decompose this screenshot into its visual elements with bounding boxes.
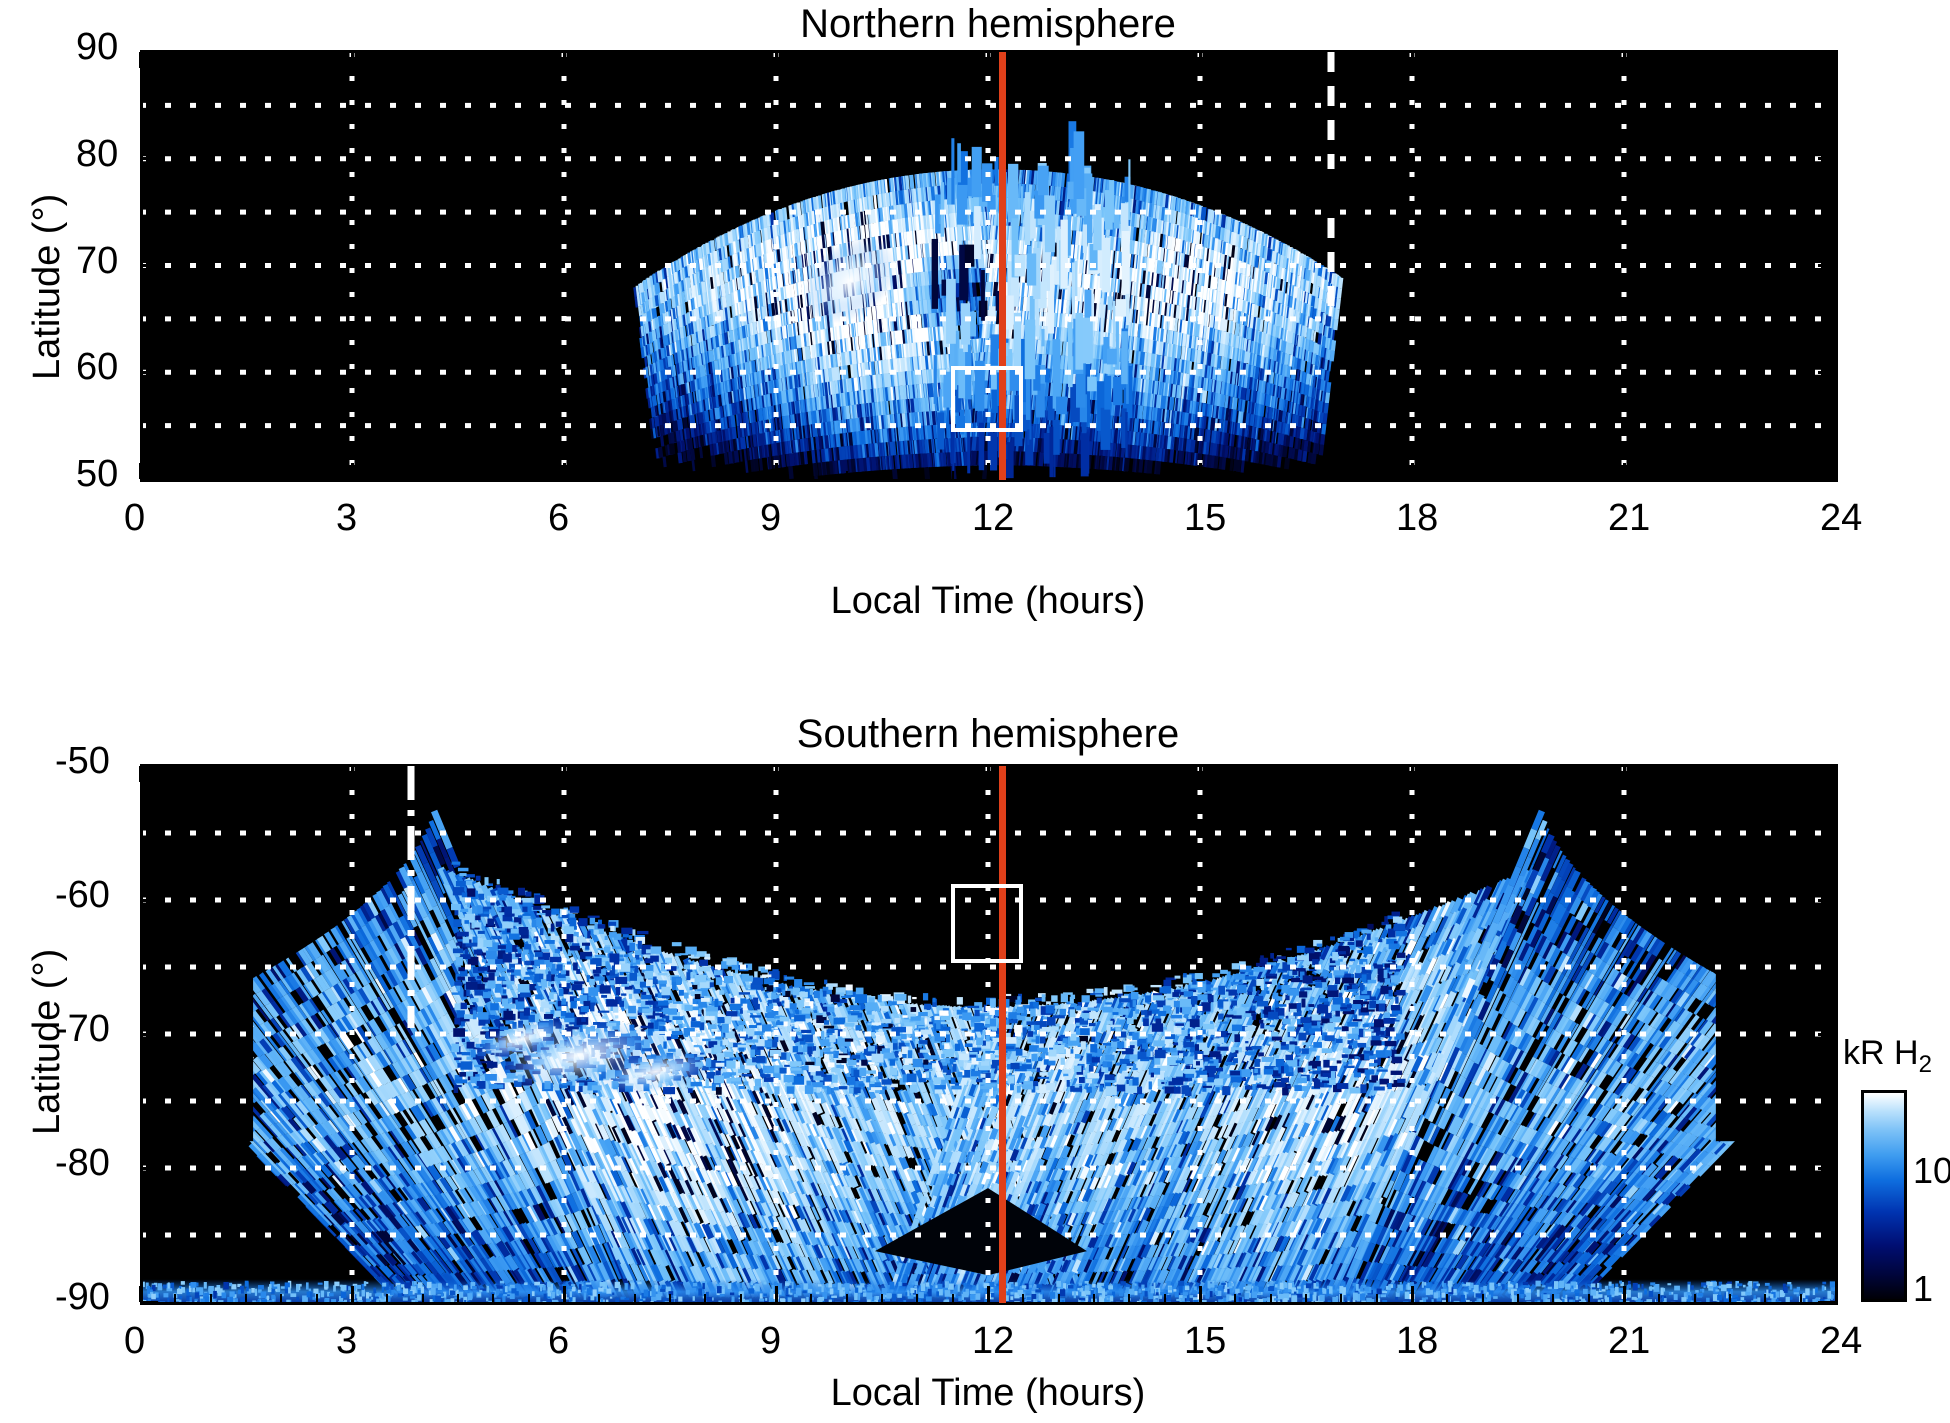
x-tick-minor	[916, 52, 918, 60]
y-tick-minor	[1826, 1006, 1836, 1008]
y-tick-minor	[140, 979, 150, 981]
y-tick-minor	[1826, 872, 1836, 874]
y-tick-minor	[1826, 845, 1836, 847]
y-tick-minor	[1826, 94, 1836, 96]
y-tick-minor	[1826, 953, 1836, 955]
x-tick-minor	[1552, 1294, 1554, 1302]
y-tick-minor	[1826, 329, 1836, 331]
y-tick-minor	[140, 94, 150, 96]
x-tick-minor	[1517, 1294, 1519, 1302]
y-tick-minor	[140, 136, 150, 138]
x-tick-minor	[210, 1294, 212, 1302]
y-tick-minor	[140, 435, 150, 437]
y-tick-label: 50	[76, 453, 118, 496]
south-heatmap-image	[140, 766, 1836, 1302]
x-tick-major	[1411, 463, 1414, 479]
x-tick-minor	[881, 1294, 883, 1302]
x-tick-minor	[810, 766, 812, 774]
y-tick-minor	[1826, 286, 1836, 288]
y-tick-major	[1818, 51, 1836, 54]
x-tick-minor	[316, 1294, 318, 1302]
x-tick-minor	[810, 52, 812, 60]
x-tick-minor	[492, 766, 494, 774]
x-tick-minor	[1164, 766, 1166, 774]
x-tick-minor	[952, 766, 954, 774]
x-tick-minor	[1764, 1294, 1766, 1302]
x-tick-major	[775, 463, 778, 479]
y-tick-label: -90	[55, 1276, 110, 1319]
south-x-axis	[140, 1302, 1838, 1305]
y-tick-minor	[140, 1087, 150, 1089]
x-tick-minor	[598, 766, 600, 774]
x-tick-major	[1199, 463, 1202, 479]
x-tick-major	[775, 1286, 778, 1302]
x-tick-minor	[1058, 471, 1060, 479]
x-tick-minor	[1658, 52, 1660, 60]
x-tick-minor	[1376, 471, 1378, 479]
x-tick-minor	[1694, 52, 1696, 60]
x-tick-minor	[740, 1294, 742, 1302]
x-tick-minor	[1128, 1294, 1130, 1302]
y-tick-minor	[1826, 1087, 1836, 1089]
y-tick-major	[140, 478, 158, 481]
y-tick-major	[1818, 765, 1836, 768]
x-tick-major	[1411, 766, 1414, 782]
x-tick-minor	[1588, 471, 1590, 479]
x-tick-minor	[457, 471, 459, 479]
x-tick-minor	[1446, 766, 1448, 774]
south-region-of-interest-box	[951, 884, 1023, 963]
x-tick-minor	[1340, 471, 1342, 479]
x-tick-major	[1199, 52, 1202, 68]
x-tick-minor	[422, 1294, 424, 1302]
x-tick-minor	[1446, 1294, 1448, 1302]
x-tick-minor	[422, 766, 424, 774]
x-tick-minor	[316, 766, 318, 774]
x-tick-minor	[1800, 1294, 1802, 1302]
x-tick-minor	[1164, 471, 1166, 479]
x-tick-minor	[1800, 471, 1802, 479]
y-tick-minor	[1826, 307, 1836, 309]
x-tick-major	[1411, 52, 1414, 68]
x-tick-minor	[528, 1294, 530, 1302]
y-tick-minor	[140, 1274, 150, 1276]
y-tick-minor	[140, 243, 150, 245]
x-tick-label: 6	[548, 1320, 569, 1363]
y-tick-minor	[1826, 1140, 1836, 1142]
y-tick-label: -50	[55, 740, 110, 783]
y-tick-major	[140, 1033, 158, 1036]
x-tick-minor	[457, 52, 459, 60]
south-y-axis-label: Latitude (°)	[26, 949, 69, 1135]
x-tick-major	[1411, 1286, 1414, 1302]
x-tick-major	[563, 52, 566, 68]
x-tick-minor	[1305, 52, 1307, 60]
x-tick-minor	[1022, 52, 1024, 60]
x-tick-minor	[245, 1294, 247, 1302]
x-tick-minor	[386, 766, 388, 774]
x-tick-minor	[245, 52, 247, 60]
x-tick-minor	[1022, 766, 1024, 774]
y-tick-minor	[140, 72, 150, 74]
x-tick-minor	[1729, 766, 1731, 774]
x-tick-major	[563, 1286, 566, 1302]
x-tick-minor	[245, 471, 247, 479]
x-tick-minor	[1552, 471, 1554, 479]
x-tick-minor	[1800, 766, 1802, 774]
x-tick-minor	[1517, 52, 1519, 60]
y-tick-minor	[140, 1194, 150, 1196]
x-tick-minor	[1093, 52, 1095, 60]
x-tick-minor	[1376, 52, 1378, 60]
y-tick-minor	[140, 1140, 150, 1142]
x-tick-minor	[669, 52, 671, 60]
x-tick-minor	[280, 1294, 282, 1302]
x-tick-minor	[1128, 766, 1130, 774]
x-tick-minor	[704, 766, 706, 774]
x-tick-minor	[528, 52, 530, 60]
x-tick-minor	[669, 471, 671, 479]
y-tick-minor	[140, 1060, 150, 1062]
x-tick-minor	[1305, 766, 1307, 774]
x-tick-label: 12	[972, 497, 1014, 540]
x-tick-minor	[1588, 766, 1590, 774]
x-tick-minor	[1446, 471, 1448, 479]
x-tick-minor	[916, 1294, 918, 1302]
x-tick-minor	[952, 52, 954, 60]
x-tick-minor	[1800, 52, 1802, 60]
x-tick-major	[139, 52, 142, 68]
colorbar-title: kR H2	[1843, 1034, 1932, 1079]
x-tick-minor	[386, 471, 388, 479]
y-tick-minor	[1826, 1194, 1836, 1196]
x-tick-major	[563, 463, 566, 479]
x-tick-minor	[952, 1294, 954, 1302]
x-tick-minor	[1270, 471, 1272, 479]
x-tick-major	[351, 463, 354, 479]
x-tick-minor	[174, 52, 176, 60]
x-tick-minor	[1482, 471, 1484, 479]
x-tick-minor	[457, 766, 459, 774]
x-tick-label: 3	[336, 1320, 357, 1363]
x-tick-major	[1623, 463, 1626, 479]
x-tick-minor	[740, 766, 742, 774]
y-tick-minor	[140, 845, 150, 847]
x-tick-minor	[634, 766, 636, 774]
x-tick-minor	[1022, 1294, 1024, 1302]
x-tick-label: 18	[1396, 1320, 1438, 1363]
x-tick-minor	[1588, 1294, 1590, 1302]
x-tick-minor	[1128, 52, 1130, 60]
y-tick-minor	[1826, 350, 1836, 352]
x-tick-minor	[598, 52, 600, 60]
y-tick-minor	[1826, 1247, 1836, 1249]
x-tick-minor	[1729, 52, 1731, 60]
x-tick-major	[1623, 1286, 1626, 1302]
x-tick-minor	[1376, 766, 1378, 774]
x-tick-minor	[881, 766, 883, 774]
south-noon-marker-line	[999, 766, 1006, 1303]
y-tick-label: -60	[55, 874, 110, 917]
x-tick-minor	[1270, 766, 1272, 774]
south-x-axis-label: Local Time (hours)	[140, 1372, 1836, 1415]
colorbar-tick-label-1: 1	[1913, 1268, 1933, 1310]
y-tick-minor	[1826, 1113, 1836, 1115]
x-tick-minor	[810, 471, 812, 479]
north-x-axis	[140, 479, 1838, 482]
x-tick-label: 9	[760, 1320, 781, 1363]
north-region-of-interest-box	[951, 366, 1023, 432]
x-tick-minor	[1058, 1294, 1060, 1302]
north-dashed-reference-line	[1327, 52, 1335, 169]
y-tick-minor	[140, 1221, 150, 1223]
x-tick-minor	[669, 1294, 671, 1302]
x-tick-major	[1835, 52, 1838, 68]
panel-title-north: Northern hemisphere	[140, 2, 1836, 47]
y-tick-major	[1818, 371, 1836, 374]
x-tick-minor	[174, 766, 176, 774]
colorbar-gradient	[1861, 1090, 1907, 1302]
x-tick-minor	[280, 766, 282, 774]
y-tick-minor	[1826, 1221, 1836, 1223]
x-tick-minor	[245, 766, 247, 774]
x-tick-minor	[846, 471, 848, 479]
x-tick-minor	[1658, 766, 1660, 774]
south-dashdot-reference-line	[406, 766, 416, 1028]
x-tick-minor	[1517, 766, 1519, 774]
y-tick-minor	[140, 792, 150, 794]
y-tick-minor	[140, 200, 150, 202]
x-tick-minor	[1517, 471, 1519, 479]
y-tick-major	[140, 899, 158, 902]
x-tick-major	[775, 766, 778, 782]
x-tick-minor	[1305, 1294, 1307, 1302]
y-tick-minor	[140, 222, 150, 224]
y-tick-label: 80	[76, 133, 118, 176]
x-tick-minor	[846, 766, 848, 774]
x-tick-minor	[704, 471, 706, 479]
north-x-axis-label: Local Time (hours)	[140, 580, 1836, 623]
x-tick-minor	[1446, 52, 1448, 60]
x-tick-major	[987, 1286, 990, 1302]
x-tick-minor	[740, 471, 742, 479]
colorbar-title-subscript: 2	[1919, 1051, 1932, 1078]
x-tick-minor	[669, 766, 671, 774]
y-tick-minor	[1826, 393, 1836, 395]
x-tick-minor	[916, 471, 918, 479]
x-tick-minor	[1093, 471, 1095, 479]
south-heatmap-plot-area	[140, 766, 1836, 1302]
x-tick-minor	[1482, 52, 1484, 60]
y-tick-minor	[1826, 222, 1836, 224]
x-tick-minor	[1234, 471, 1236, 479]
x-tick-major	[1623, 766, 1626, 782]
x-tick-major	[351, 1286, 354, 1302]
y-tick-minor	[140, 307, 150, 309]
y-tick-minor	[140, 953, 150, 955]
x-tick-major	[1199, 766, 1202, 782]
x-tick-minor	[704, 1294, 706, 1302]
x-tick-label: 15	[1184, 1320, 1226, 1363]
y-tick-minor	[1826, 819, 1836, 821]
x-tick-minor	[1270, 1294, 1272, 1302]
x-tick-label: 15	[1184, 497, 1226, 540]
x-tick-minor	[598, 471, 600, 479]
y-tick-major	[140, 1301, 158, 1304]
x-tick-minor	[634, 471, 636, 479]
x-tick-minor	[1058, 766, 1060, 774]
x-tick-minor	[846, 1294, 848, 1302]
x-tick-minor	[210, 52, 212, 60]
north-y-axis-label: Latitude (°)	[26, 194, 69, 380]
y-tick-major	[1818, 899, 1836, 902]
y-tick-minor	[140, 115, 150, 117]
x-tick-minor	[1482, 766, 1484, 774]
x-tick-minor	[916, 766, 918, 774]
x-tick-minor	[210, 471, 212, 479]
y-tick-minor	[1826, 243, 1836, 245]
x-tick-minor	[1694, 1294, 1696, 1302]
x-tick-minor	[422, 471, 424, 479]
x-tick-label: 9	[760, 497, 781, 540]
x-tick-minor	[634, 1294, 636, 1302]
y-tick-minor	[140, 1113, 150, 1115]
x-tick-minor	[1093, 1294, 1095, 1302]
y-tick-major	[140, 1167, 158, 1170]
x-tick-minor	[881, 52, 883, 60]
x-tick-minor	[316, 471, 318, 479]
x-tick-minor	[1658, 1294, 1660, 1302]
x-tick-minor	[1340, 52, 1342, 60]
x-tick-minor	[1234, 52, 1236, 60]
y-tick-major	[140, 51, 158, 54]
x-tick-minor	[1588, 52, 1590, 60]
x-tick-minor	[1552, 52, 1554, 60]
y-tick-minor	[1826, 136, 1836, 138]
x-tick-minor	[1234, 766, 1236, 774]
y-tick-label: 70	[76, 240, 118, 283]
x-tick-label: 12	[972, 1320, 1014, 1363]
y-tick-minor	[1826, 200, 1836, 202]
x-tick-minor	[598, 1294, 600, 1302]
x-tick-minor	[1658, 471, 1660, 479]
y-tick-major	[140, 264, 158, 267]
x-tick-label: 3	[336, 497, 357, 540]
y-tick-minor	[1826, 414, 1836, 416]
y-tick-major	[1818, 1033, 1836, 1036]
x-tick-minor	[1164, 52, 1166, 60]
y-tick-minor	[140, 329, 150, 331]
x-tick-major	[351, 52, 354, 68]
x-tick-minor	[1340, 1294, 1342, 1302]
x-tick-minor	[1376, 1294, 1378, 1302]
y-tick-label: 90	[76, 26, 118, 69]
x-tick-minor	[1234, 1294, 1236, 1302]
y-tick-minor	[140, 1247, 150, 1249]
y-tick-minor	[1826, 72, 1836, 74]
x-tick-minor	[881, 471, 883, 479]
x-tick-minor	[1764, 471, 1766, 479]
x-tick-label: 21	[1608, 1320, 1650, 1363]
x-tick-label: 0	[124, 1320, 145, 1363]
y-tick-minor	[1826, 457, 1836, 459]
x-tick-major	[1199, 1286, 1202, 1302]
y-tick-minor	[140, 286, 150, 288]
y-tick-label: -80	[55, 1142, 110, 1185]
colorbar-tick-label-10: 10	[1913, 1150, 1950, 1192]
x-tick-minor	[1093, 766, 1095, 774]
x-tick-label: 24	[1820, 1320, 1862, 1363]
x-tick-minor	[1340, 766, 1342, 774]
x-tick-minor	[386, 1294, 388, 1302]
x-tick-minor	[1694, 471, 1696, 479]
x-tick-minor	[280, 471, 282, 479]
y-tick-major	[1818, 157, 1836, 160]
x-tick-minor	[492, 1294, 494, 1302]
y-tick-minor	[1826, 1274, 1836, 1276]
x-tick-minor	[210, 766, 212, 774]
north-dashed-reference-line-lower	[1327, 218, 1335, 318]
y-tick-major	[1818, 1301, 1836, 1304]
y-tick-major	[1818, 264, 1836, 267]
x-tick-minor	[740, 52, 742, 60]
y-tick-label: 60	[76, 346, 118, 389]
x-tick-minor	[1729, 1294, 1731, 1302]
x-tick-minor	[952, 471, 954, 479]
x-tick-major	[775, 52, 778, 68]
x-tick-label: 0	[124, 497, 145, 540]
x-tick-minor	[1058, 52, 1060, 60]
y-tick-minor	[1826, 115, 1836, 117]
x-tick-minor	[1764, 52, 1766, 60]
x-tick-minor	[1729, 471, 1731, 479]
x-tick-minor	[280, 52, 282, 60]
y-tick-minor	[140, 393, 150, 395]
x-tick-minor	[528, 766, 530, 774]
x-tick-major	[987, 463, 990, 479]
x-tick-minor	[1764, 766, 1766, 774]
colorbar-title-text: kR H	[1843, 1034, 1919, 1072]
y-tick-minor	[1826, 979, 1836, 981]
y-tick-minor	[140, 819, 150, 821]
x-tick-major	[139, 766, 142, 782]
y-tick-minor	[1826, 926, 1836, 928]
y-tick-major	[1818, 478, 1836, 481]
x-tick-minor	[634, 52, 636, 60]
x-tick-minor	[1022, 471, 1024, 479]
y-tick-major	[1818, 1167, 1836, 1170]
y-tick-minor	[1826, 179, 1836, 181]
x-tick-label: 18	[1396, 497, 1438, 540]
y-tick-minor	[140, 350, 150, 352]
x-tick-minor	[174, 1294, 176, 1302]
y-tick-minor	[1826, 435, 1836, 437]
x-tick-minor	[1482, 1294, 1484, 1302]
x-tick-major	[987, 52, 990, 68]
x-tick-minor	[316, 52, 318, 60]
y-tick-minor	[140, 926, 150, 928]
x-tick-minor	[1552, 766, 1554, 774]
x-tick-minor	[1270, 52, 1272, 60]
y-tick-minor	[140, 1006, 150, 1008]
panel-title-south: Southern hemisphere	[140, 712, 1836, 757]
x-tick-major	[563, 766, 566, 782]
x-tick-minor	[1694, 766, 1696, 774]
y-tick-minor	[1826, 792, 1836, 794]
x-tick-minor	[386, 52, 388, 60]
y-tick-minor	[140, 872, 150, 874]
y-tick-minor	[1826, 1060, 1836, 1062]
